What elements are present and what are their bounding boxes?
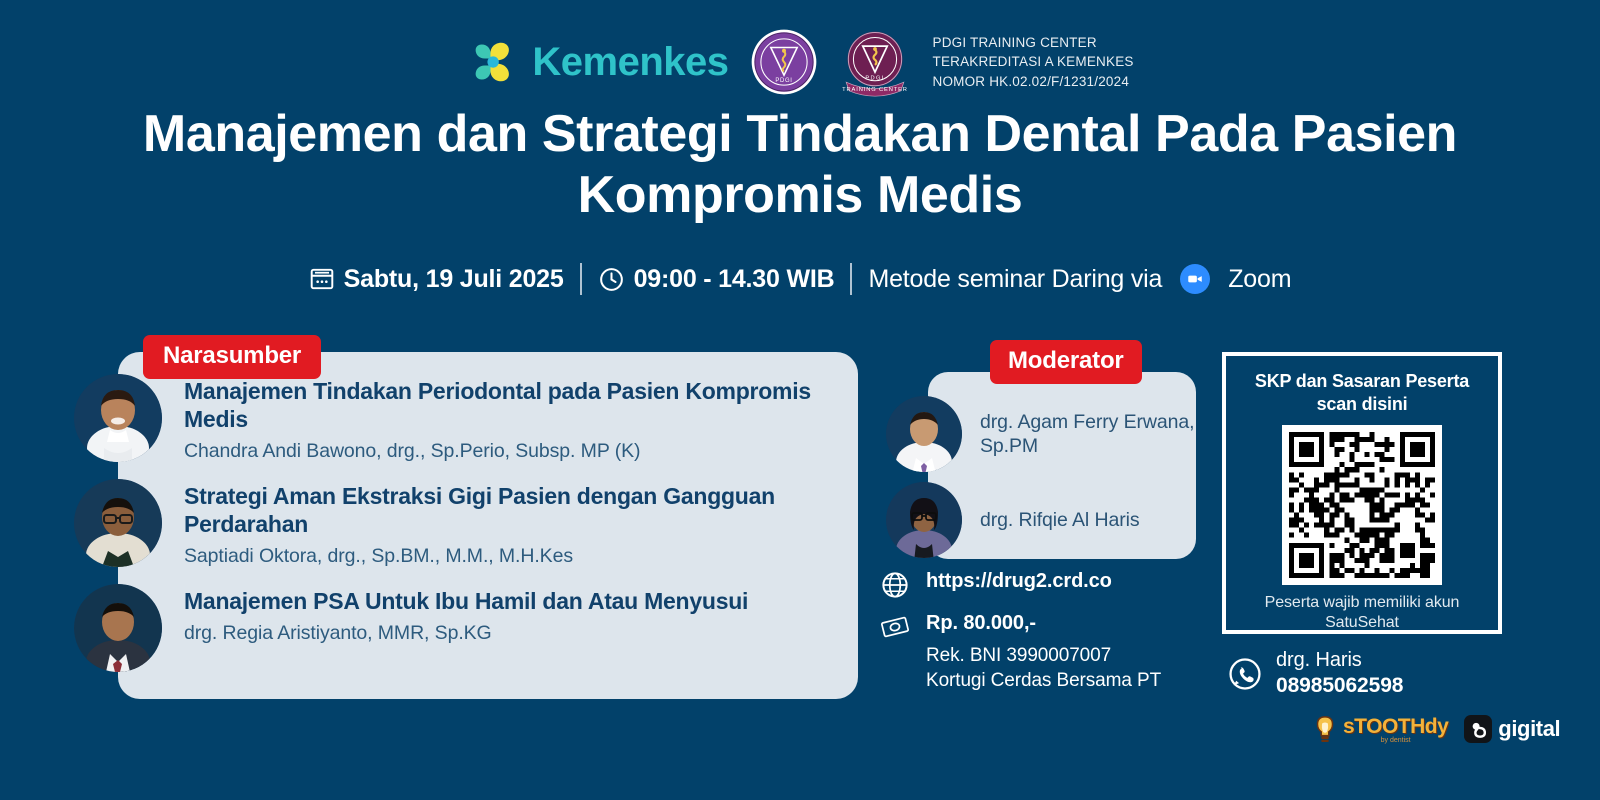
narasumber-speaker: Saptiadi Oktora, drg., Sp.BM., M.M., M.H… [184,544,834,569]
narasumber-item: Manajemen Tindakan Periodontal pada Pasi… [118,374,858,464]
moderator-badge: Moderator [990,340,1142,384]
stoothdy-logo: sTOOTHdy by dentist [1310,714,1448,744]
narasumber-topic: Strategi Aman Ekstraksi Gigi Pasien deng… [184,483,834,539]
qr-panel: SKP dan Sasaran Peserta scan disini Pese… [1222,352,1502,634]
website-url[interactable]: https://drug2.crd.co [926,570,1112,593]
moderator-name: drg. Agam Ferry Erwana, Sp.PM [962,410,1196,458]
phone-number: 08985062598 [1276,673,1403,699]
whatsapp-phone-icon [1228,657,1262,691]
speaker-photo-wrap [74,584,162,672]
page-title: Manajemen dan Strategi Tindakan Dental P… [0,104,1600,226]
accreditation-text: PDGI TRAINING CENTER TERAKREDITASI A KEM… [933,33,1134,90]
calendar-icon [309,266,335,292]
money-icon [880,612,910,642]
narasumber-item: Strategi Aman Ekstraksi Gigi Pasien deng… [118,479,858,569]
phone-contact[interactable]: drg. Haris 08985062598 [1228,648,1403,699]
event-date: Sabtu, 19 Juli 2025 [344,265,564,294]
avatar [886,396,962,472]
narasumber-item: Manajemen PSA Untuk Ibu Hamil dan Atau M… [118,584,858,672]
qr-code-image [1289,432,1435,578]
narasumber-speaker: drg. Regia Aristiyanto, MMR, Sp.KG [184,621,748,646]
narasumber-badge: Narasumber [143,335,321,379]
moderator-photo-wrap [886,396,962,472]
kemenkes-wordmark: Kemenkes [532,40,728,85]
kemenkes-mark-icon [466,34,522,90]
website-row[interactable]: https://drug2.crd.co [880,570,1210,600]
zoom-icon [1180,264,1210,294]
pdgi-training-center-seal-icon: PDGI TRAINING CENTER [839,26,911,98]
clock-icon [598,266,625,293]
phone-details: drg. Haris 08985062598 [1276,648,1403,699]
narasumber-topic: Manajemen PSA Untuk Ibu Hamil dan Atau M… [184,588,748,616]
gigital-mark-icon [1464,715,1492,743]
bank-holder: Kortugi Cerdas Bersama PT [926,668,1161,693]
event-method-prefix: Metode seminar Daring via [868,265,1162,294]
event-time: 09:00 - 14.30 WIB [634,265,835,294]
narasumber-speaker: Chandra Andi Bawono, drg., Sp.Perio, Sub… [184,439,834,464]
narasumber-text: Manajemen Tindakan Periodontal pada Pasi… [162,374,834,464]
narasumber-topic: Manajemen Tindakan Periodontal pada Pasi… [184,378,834,434]
avatar [74,479,162,567]
lightbulb-tooth-icon [1310,714,1340,744]
svg-text:PDGI: PDGI [775,78,792,84]
avatar [74,374,162,462]
qr-title: SKP dan Sasaran Peserta scan disini [1236,370,1488,415]
narasumber-text: Strategi Aman Ekstraksi Gigi Pasien deng… [162,479,834,569]
meta-divider-1 [580,263,582,295]
svg-text:TRAINING CENTER: TRAINING CENTER [842,87,908,93]
moderator-item: drg. Agam Ferry Erwana, Sp.PM [928,396,1196,472]
avatar [74,584,162,672]
narasumber-text: Manajemen PSA Untuk Ibu Hamil dan Atau M… [162,584,748,646]
qr-code[interactable] [1282,425,1442,585]
gigital-logo: gigital [1464,715,1560,743]
header-logo-row: Kemenkes PDGI PDGI TRAINING CENTER PDGI … [0,26,1600,98]
gigital-wordmark: gigital [1498,716,1560,742]
stoothdy-wordmark: sTOOTHdy [1343,715,1448,738]
event-platform: Zoom [1228,265,1291,294]
speaker-photo-wrap [74,479,162,567]
price: Rp. 80.000,- [926,612,1161,635]
qr-footer-note: Peserta wajib memiliki akun SatuSehat [1236,593,1488,632]
stoothdy-wordmark-wrap: sTOOTHdy by dentist [1343,715,1448,744]
speaker-photo-wrap [74,374,162,462]
event-meta-row: Sabtu, 19 Juli 2025 09:00 - 14.30 WIB Me… [0,263,1600,295]
poster-canvas: Kemenkes PDGI PDGI TRAINING CENTER PDGI … [0,0,1600,800]
moderator-list: drg. Agam Ferry Erwana, Sp.PM [928,382,1196,558]
event-time-group: 09:00 - 14.30 WIB [598,265,835,294]
payment-row: Rp. 80.000,- Rek. BNI 3990007007 Kortugi… [880,612,1210,694]
moderator-item: drg. Rifqie Al Haris [928,482,1196,558]
event-date-group: Sabtu, 19 Juli 2025 [309,265,564,294]
meta-divider-2 [850,263,852,295]
svg-text:PDGI: PDGI [865,75,884,81]
contact-info: https://drug2.crd.co Rp. 80.000,- Rek. B… [880,570,1210,706]
avatar [886,482,962,558]
footer-brand-logos: sTOOTHdy by dentist gigital [1310,714,1560,744]
payment-details: Rp. 80.000,- Rek. BNI 3990007007 Kortugi… [926,612,1161,694]
event-method-group: Metode seminar Daring via Zoom [868,264,1291,294]
moderator-name: drg. Rifqie Al Haris [962,508,1139,532]
kemenkes-logo: Kemenkes [466,34,728,90]
phone-contact-name: drg. Haris [1276,648,1403,673]
globe-icon [880,570,910,600]
pdgi-seal-icon: PDGI [751,29,817,95]
bank-account: Rek. BNI 3990007007 [926,643,1161,668]
narasumber-list: Manajemen Tindakan Periodontal pada Pasi… [118,352,858,672]
moderator-photo-wrap [886,482,962,558]
